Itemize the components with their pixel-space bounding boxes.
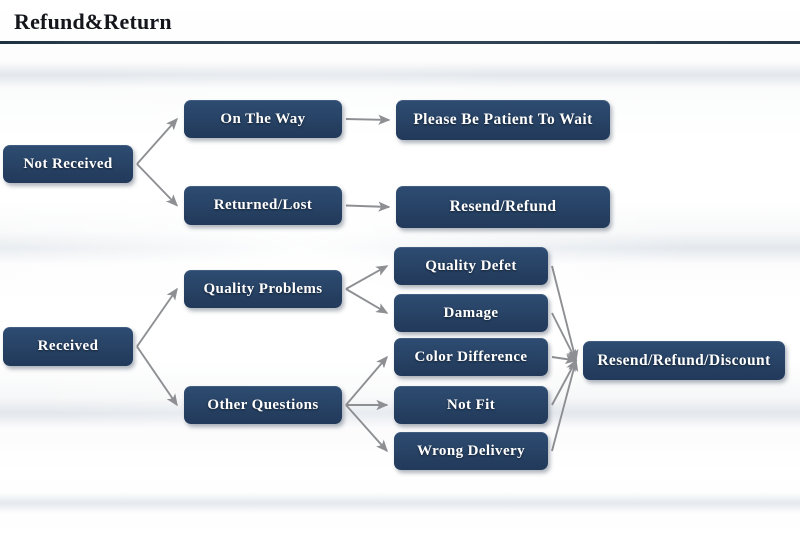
node-label: Damage — [444, 305, 499, 322]
node-quality-defet[interactable]: Quality Defet — [394, 247, 548, 285]
node-resend-refund-discount[interactable]: Resend/Refund/Discount — [583, 341, 785, 380]
node-not-fit[interactable]: Not Fit — [394, 386, 548, 424]
node-label: Please Be Patient To Wait — [413, 111, 592, 129]
node-resend-refund[interactable]: Resend/Refund — [396, 186, 610, 228]
header-divider — [0, 41, 800, 44]
node-other-questions[interactable]: Other Questions — [184, 386, 342, 424]
node-received[interactable]: Received — [3, 327, 133, 366]
node-damage[interactable]: Damage — [394, 294, 548, 332]
node-label: Resend/Refund/Discount — [597, 352, 770, 370]
node-label: Color Difference — [415, 349, 528, 366]
node-label: Wrong Delivery — [417, 443, 525, 460]
node-label: Resend/Refund — [450, 198, 557, 216]
node-label: Other Questions — [207, 397, 318, 414]
node-label: Not Fit — [447, 397, 495, 414]
flowchart-page: Refund&Return Not ReceivedOn The WayRetu… — [0, 0, 800, 545]
node-label: Quality Defet — [425, 258, 516, 275]
node-label: Not Received — [23, 156, 112, 173]
node-label: Quality Problems — [203, 281, 322, 298]
node-label: On The Way — [220, 111, 305, 128]
node-color-difference[interactable]: Color Difference — [394, 338, 548, 376]
node-label: Received — [38, 338, 99, 355]
node-please-wait[interactable]: Please Be Patient To Wait — [396, 100, 610, 140]
page-header: Refund&Return — [0, 0, 800, 46]
node-returned-lost[interactable]: Returned/Lost — [184, 186, 342, 225]
page-title: Refund&Return — [14, 9, 172, 35]
node-wrong-delivery[interactable]: Wrong Delivery — [394, 432, 548, 470]
node-not-received[interactable]: Not Received — [3, 145, 133, 183]
node-quality-problems[interactable]: Quality Problems — [184, 270, 342, 308]
node-label: Returned/Lost — [214, 197, 313, 214]
node-on-the-way[interactable]: On The Way — [184, 100, 342, 138]
